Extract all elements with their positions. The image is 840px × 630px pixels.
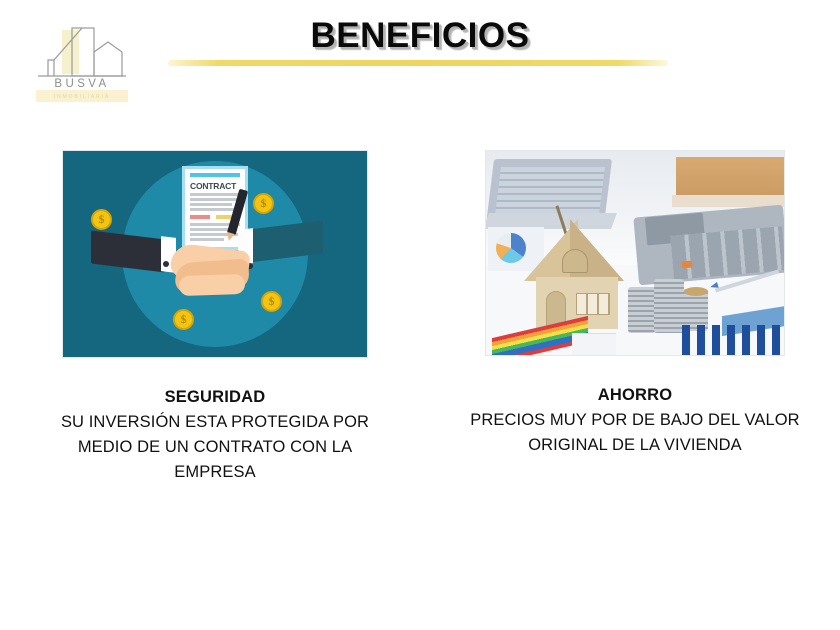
pie-chart-graphic	[496, 233, 526, 263]
benefit-body: SU INVERSIÓN ESTA PROTEGIDA POR MEDIO DE…	[0, 410, 430, 485]
paper-note	[572, 333, 616, 356]
model-house-coins-photo	[485, 150, 785, 356]
document-text-line	[190, 238, 224, 241]
house-gable-window	[562, 249, 588, 273]
calculator-accent-key	[682, 261, 693, 269]
slide-header: BUSVA INMOBILIARIA BENEFICIOS	[0, 0, 840, 120]
benefit-caption-seguridad: SEGURIDAD SU INVERSIÓN ESTA PROTEGIDA PO…	[0, 385, 430, 485]
dollar-coin-icon: $	[253, 193, 274, 214]
document-field-box	[190, 215, 210, 219]
handshake-fingers	[179, 274, 246, 296]
document-header-band	[190, 173, 240, 177]
title-underline-rule	[168, 60, 668, 66]
bar-chart-graphic	[682, 325, 785, 356]
benefit-card-seguridad: $ $ $ $ CONTRACT SEGURIDAD	[0, 150, 430, 485]
logo-tagline: INMOBILIARIA	[26, 94, 138, 100]
laptop-keyboard	[495, 167, 605, 215]
contract-document-title: CONTRACT	[190, 181, 240, 191]
house-window	[576, 293, 610, 315]
document-text-line	[190, 203, 232, 206]
coin-stack	[654, 279, 684, 333]
benefit-card-ahorro: AHORRO PRECIOS MUY POR DE BAJO DEL VALOR…	[430, 150, 840, 458]
dollar-coin-icon: $	[91, 209, 112, 230]
benefit-caption-ahorro: AHORRO PRECIOS MUY POR DE BAJO DEL VALOR…	[430, 383, 840, 458]
page-title: BENEFICIOS	[0, 16, 840, 56]
benefit-heading: SEGURIDAD	[0, 385, 430, 410]
document-text-line	[190, 198, 240, 201]
coin-stack	[628, 287, 656, 333]
dollar-coin-icon: $	[173, 309, 194, 330]
dollar-coin-icon: $	[261, 291, 282, 312]
benefit-body: PRECIOS MUY POR DE BAJO DEL VALOR ORIGIN…	[430, 408, 840, 458]
document-text-line	[190, 193, 240, 196]
benefit-heading: AHORRO	[430, 383, 840, 408]
gold-coin	[684, 287, 708, 296]
cuff-button	[163, 261, 169, 267]
handshake-contract-illustration: $ $ $ $ CONTRACT	[62, 150, 368, 358]
logo-wordmark: BUSVA	[26, 78, 138, 90]
